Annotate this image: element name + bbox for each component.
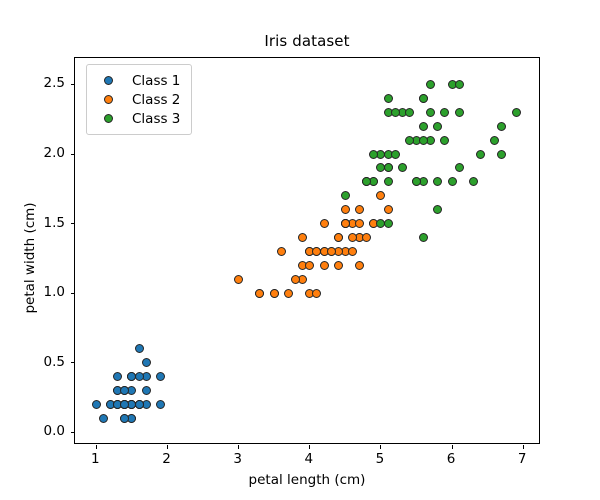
scatter-point — [433, 177, 442, 186]
scatter-point — [291, 275, 300, 284]
scatter-point — [433, 122, 442, 131]
scatter-point — [355, 261, 364, 270]
scatter-point — [277, 247, 286, 256]
scatter-point — [376, 163, 385, 172]
scatter-point — [99, 414, 108, 423]
x-tick-mark — [238, 445, 239, 449]
y-axis-tick-labels: 0.00.51.01.52.02.5 — [0, 0, 65, 500]
legend-item-3[interactable]: Class 3 — [95, 109, 180, 128]
x-tick-mark — [380, 445, 381, 449]
scatter-point — [448, 177, 457, 186]
scatter-point — [384, 177, 393, 186]
scatter-point — [348, 247, 357, 256]
scatter-point — [355, 219, 364, 228]
scatter-point — [142, 358, 151, 367]
scatter-point — [405, 136, 414, 145]
scatter-point — [348, 233, 357, 242]
scatter-point — [355, 205, 364, 214]
scatter-point — [298, 233, 307, 242]
y-tick-label: 0.0 — [44, 423, 65, 439]
scatter-point — [320, 219, 329, 228]
chart-legend[interactable]: Class 1Class 2Class 3 — [86, 64, 192, 135]
scatter-point — [426, 108, 435, 117]
legend-marker-icon — [104, 76, 113, 85]
scatter-point — [433, 205, 442, 214]
scatter-point — [234, 275, 243, 284]
scatter-point — [419, 136, 428, 145]
scatter-point — [419, 122, 428, 131]
x-tick-mark — [523, 445, 524, 449]
scatter-point — [405, 108, 414, 117]
scatter-point — [341, 205, 350, 214]
y-tick-label: 0.5 — [44, 354, 65, 370]
scatter-point — [419, 233, 428, 242]
x-tick-label: 3 — [233, 451, 242, 467]
legend-item-1[interactable]: Class 1 — [95, 71, 180, 90]
scatter-point — [455, 163, 464, 172]
legend-marker-icon — [104, 114, 113, 123]
scatter-point — [398, 163, 407, 172]
x-tick-mark — [96, 445, 97, 449]
scatter-point — [476, 150, 485, 159]
scatter-point — [127, 372, 136, 381]
x-tick-label: 2 — [162, 451, 171, 467]
chart-figure: Iris dataset petal width (cm) petal leng… — [0, 0, 600, 500]
plot-area: Class 1Class 2Class 3 — [74, 57, 540, 444]
scatter-point — [156, 400, 165, 409]
scatter-point — [156, 372, 165, 381]
scatter-point — [362, 233, 371, 242]
scatter-point — [270, 289, 279, 298]
scatter-point — [341, 191, 350, 200]
scatter-point — [512, 108, 521, 117]
x-tick-mark — [309, 445, 310, 449]
scatter-point — [391, 150, 400, 159]
y-tick-label: 1.5 — [44, 215, 65, 231]
scatter-point — [455, 108, 464, 117]
legend-item-2[interactable]: Class 2 — [95, 90, 180, 109]
x-tick-mark — [167, 445, 168, 449]
scatter-point — [284, 289, 293, 298]
scatter-point — [426, 80, 435, 89]
scatter-point — [497, 150, 506, 159]
scatter-point — [327, 247, 336, 256]
legend-marker-icon — [104, 95, 113, 104]
scatter-point — [469, 177, 478, 186]
scatter-point — [92, 400, 101, 409]
x-tick-label: 7 — [518, 451, 527, 467]
scatter-point — [440, 136, 449, 145]
scatter-point — [497, 122, 506, 131]
scatter-point — [113, 372, 122, 381]
scatter-point — [142, 386, 151, 395]
y-tick-label: 2.5 — [44, 75, 65, 91]
scatter-point — [334, 233, 343, 242]
scatter-point — [490, 136, 499, 145]
scatter-point — [255, 289, 264, 298]
scatter-point — [334, 261, 343, 270]
scatter-point — [135, 344, 144, 353]
scatter-point — [384, 205, 393, 214]
scatter-point — [369, 150, 378, 159]
scatter-point — [391, 108, 400, 117]
y-tick-label: 2.0 — [44, 145, 65, 161]
legend-label: Class 2 — [132, 92, 180, 108]
scatter-point — [455, 80, 464, 89]
scatter-point — [419, 94, 428, 103]
scatter-point — [384, 219, 393, 228]
scatter-point — [412, 177, 421, 186]
scatter-point — [341, 219, 350, 228]
y-tick-label: 1.0 — [44, 284, 65, 300]
x-tick-mark — [452, 445, 453, 449]
x-axis-label: petal length (cm) — [74, 472, 540, 488]
legend-label: Class 1 — [132, 73, 180, 89]
scatter-point — [320, 261, 329, 270]
scatter-point — [440, 108, 449, 117]
scatter-point — [312, 289, 321, 298]
x-tick-label: 4 — [304, 451, 313, 467]
scatter-point — [305, 261, 314, 270]
chart-title: Iris dataset — [74, 32, 540, 50]
x-tick-label: 1 — [91, 451, 100, 467]
legend-label: Class 3 — [132, 111, 180, 127]
scatter-point — [384, 94, 393, 103]
scatter-point — [376, 191, 385, 200]
x-tick-label: 6 — [447, 451, 456, 467]
scatter-point — [312, 247, 321, 256]
x-tick-label: 5 — [376, 451, 385, 467]
